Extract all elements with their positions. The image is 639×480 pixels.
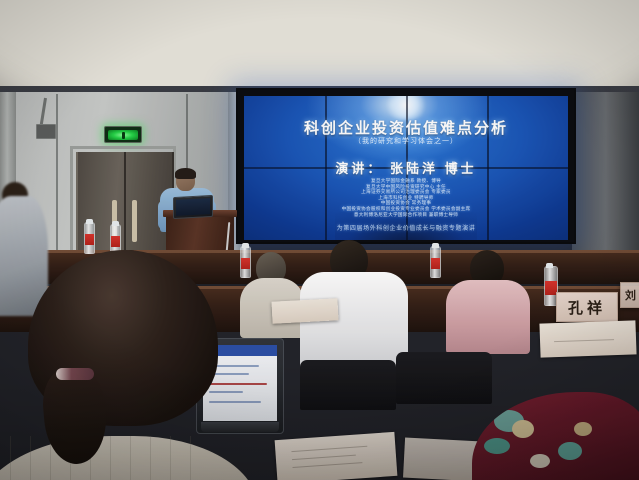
- slide-title: 科创企业投资估值难点分析: [244, 117, 568, 138]
- photo-scene: 科创企业投资估值难点分析 （我的研究和学习体会之一） 演讲： 张陆洋 博士 复旦…: [0, 0, 639, 480]
- handout-paper[interactable]: [275, 432, 398, 480]
- foreground-attendee-top: [0, 436, 258, 480]
- bottle-label: [431, 258, 440, 269]
- bottle-cap: [112, 221, 119, 226]
- credential-line: 意大利博洛尼亚大学国际合作项目 兼职博士导师: [244, 212, 568, 218]
- slide-banner: 为第四届场外科创企业价值成长与融资专题演讲: [244, 223, 568, 232]
- nameplate: 孔祥: [556, 292, 618, 322]
- floral-motif: [530, 454, 550, 468]
- wall-junction-box: [36, 124, 56, 139]
- floral-motif: [558, 442, 582, 460]
- door-handle-right[interactable]: [132, 200, 137, 242]
- slide-speaker-line: 演讲： 张陆洋 博士: [244, 158, 568, 177]
- exit-sign: [104, 126, 142, 143]
- presenter-hair: [175, 168, 196, 179]
- slide-subtitle: （我的研究和学习体会之一）: [244, 136, 568, 146]
- bottle-label: [85, 234, 94, 245]
- bottle-cap: [432, 243, 439, 248]
- bottle[interactable]: [430, 246, 441, 278]
- paper-line: [293, 462, 363, 468]
- attendee-torso: [300, 272, 408, 372]
- attendee-torso: [446, 280, 530, 354]
- chair-back: [300, 360, 396, 410]
- handout-paper[interactable]: [271, 298, 338, 323]
- paper-line: [554, 339, 614, 342]
- paper-line: [291, 446, 367, 452]
- running-man-icon: [122, 132, 125, 139]
- paper-line: [292, 455, 356, 460]
- nameplate: 刘: [620, 282, 639, 308]
- foreground-attendee-floral: [472, 392, 639, 480]
- floral-motif: [484, 438, 510, 454]
- handout-paper[interactable]: [539, 320, 636, 357]
- bottle-cap: [86, 219, 93, 224]
- foreground-attendee: [0, 250, 248, 480]
- bottle-label: [111, 236, 120, 247]
- bottle-cap: [546, 263, 553, 268]
- exit-sign-glow: [108, 130, 138, 140]
- hair-tie: [56, 368, 94, 380]
- presenter-laptop-screen: [176, 198, 210, 216]
- bottle-cap: [242, 243, 249, 248]
- video-wall-screen[interactable]: 科创企业投资估值难点分析 （我的研究和学习体会之一） 演讲： 张陆洋 博士 复旦…: [244, 96, 568, 240]
- floral-motif: [512, 420, 534, 438]
- floral-motif: [574, 422, 592, 436]
- presenter-laptop[interactable]: [173, 195, 213, 219]
- right-wall: [572, 92, 639, 272]
- chair-back: [396, 352, 492, 404]
- slide-credentials: 复旦大学国际金融系 教授、博导 复旦大学中国风险投资研究中心 主任 上海证券交易…: [244, 178, 568, 217]
